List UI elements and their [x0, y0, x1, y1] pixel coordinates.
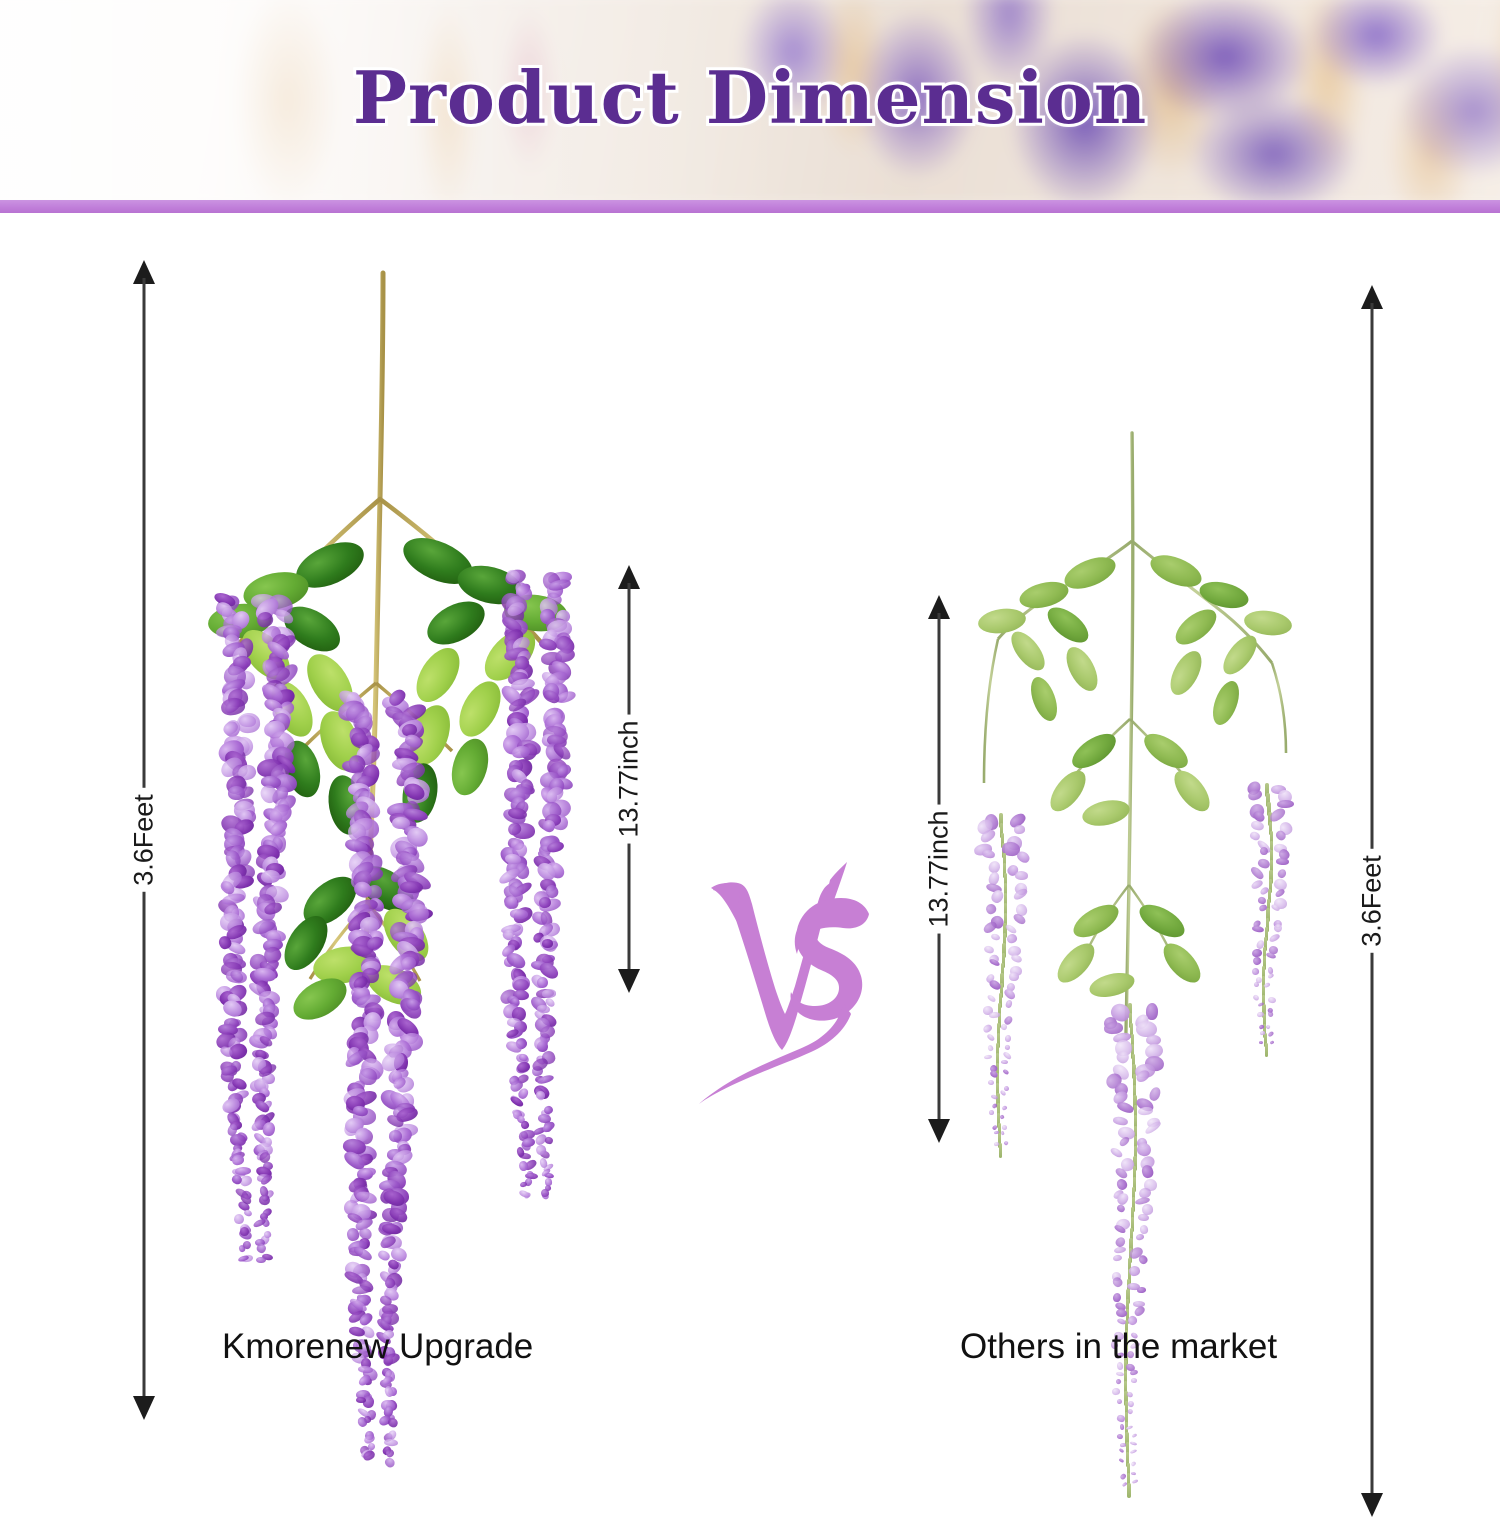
floret	[984, 1055, 992, 1060]
measure-left-strand-label: 13.77inch	[611, 714, 648, 843]
floret	[244, 1209, 254, 1218]
floret	[1138, 1106, 1154, 1116]
floret	[1112, 1388, 1121, 1396]
floret	[1136, 1141, 1153, 1158]
floret	[1014, 825, 1026, 835]
floret	[506, 1018, 521, 1028]
floret	[240, 1227, 249, 1236]
floret	[1266, 1025, 1272, 1031]
floret	[1251, 925, 1264, 933]
floret	[1131, 1378, 1138, 1383]
floret	[1131, 1472, 1136, 1476]
floret	[1010, 953, 1023, 964]
header-banner: Product Dimension	[0, 0, 1500, 200]
floret	[1112, 1292, 1121, 1302]
floret	[981, 849, 996, 859]
floret	[1005, 1034, 1012, 1042]
floret	[510, 908, 529, 919]
floret	[1267, 973, 1274, 980]
floret	[986, 994, 997, 1004]
measure-left-total-label: 3.6Feet	[126, 788, 163, 892]
floret	[1128, 1265, 1140, 1277]
floret	[1117, 1434, 1123, 1439]
floret	[1116, 1203, 1127, 1213]
floret	[1259, 1041, 1263, 1044]
floret	[391, 817, 409, 830]
floret	[1115, 1371, 1124, 1377]
right-flower-strand-3	[1240, 783, 1294, 1043]
floret	[1115, 1378, 1122, 1385]
floret	[1137, 1213, 1149, 1221]
right-flower-strand-1	[972, 813, 1030, 1143]
header-divider	[0, 200, 1500, 213]
floret	[1001, 1125, 1006, 1130]
floret	[264, 1230, 273, 1239]
floret	[984, 945, 995, 955]
floret	[542, 938, 554, 947]
floret	[984, 902, 998, 916]
floret	[537, 976, 548, 987]
floret	[1005, 999, 1013, 1008]
floret	[1268, 997, 1276, 1004]
floret	[1260, 847, 1268, 856]
floret	[1135, 1233, 1145, 1241]
floret	[987, 1045, 995, 1053]
left-flower-strand-1	[215, 593, 291, 1253]
floret	[1006, 933, 1019, 945]
floret	[400, 881, 423, 894]
left-product-label: Kmorenew Upgrade	[222, 1327, 533, 1367]
floret	[989, 1110, 995, 1115]
floret	[1252, 967, 1260, 975]
left-flower-strand-3	[498, 573, 570, 1193]
floret	[520, 1120, 530, 1130]
floret	[1015, 871, 1029, 880]
floret	[261, 870, 280, 884]
floret	[1136, 1287, 1145, 1293]
floret	[536, 1091, 545, 1099]
floret	[544, 1178, 552, 1186]
floret	[1276, 857, 1289, 864]
floret	[1251, 956, 1261, 966]
floret	[1141, 1164, 1155, 1179]
floret	[1132, 1433, 1138, 1439]
floret	[999, 1114, 1004, 1119]
floret	[1002, 1105, 1008, 1110]
arrowhead-down-icon	[133, 1396, 155, 1420]
floret	[1129, 1449, 1137, 1454]
flower-stem-core	[1265, 1043, 1268, 1057]
floret	[1129, 1441, 1137, 1446]
floret	[544, 1136, 554, 1145]
measure-right-total-label: 3.6Feet	[1354, 849, 1391, 953]
vs-badge	[697, 858, 877, 1128]
arrowhead-down-icon	[618, 969, 640, 993]
floret	[1000, 1130, 1005, 1135]
floret	[1112, 1116, 1128, 1127]
measure-left-strand: 13.77inch	[609, 565, 649, 993]
floret	[542, 988, 557, 997]
page-title: Product Dimension	[0, 56, 1500, 140]
floret	[1005, 1044, 1012, 1050]
right-flower-strand-2	[1098, 1003, 1162, 1483]
floret	[990, 932, 1001, 941]
floret	[982, 1023, 993, 1034]
floret	[987, 1080, 994, 1086]
floret	[989, 1011, 1000, 1018]
floret	[982, 920, 998, 935]
floret	[1113, 1254, 1122, 1261]
floret	[1252, 994, 1260, 1002]
floret	[1119, 1458, 1125, 1463]
floret	[1118, 1448, 1124, 1453]
floret	[1009, 972, 1019, 981]
floret	[234, 1214, 244, 1224]
floret	[1267, 1031, 1274, 1038]
floret	[1003, 987, 1017, 1000]
flower-stem-core	[999, 1143, 1002, 1158]
floret	[1003, 1068, 1010, 1074]
floret	[1114, 1246, 1126, 1254]
measure-right-total: 3.6Feet	[1352, 285, 1392, 1517]
floret	[519, 1181, 527, 1187]
right-product-label: Others in the market	[960, 1327, 1277, 1367]
floret	[1001, 1060, 1008, 1064]
floret	[1127, 1400, 1135, 1408]
floret	[1002, 1051, 1012, 1060]
floret	[540, 1189, 549, 1198]
arrowhead-down-icon	[1361, 1493, 1383, 1517]
floret	[1254, 982, 1259, 987]
vs-icon	[697, 858, 877, 1128]
floret	[1268, 933, 1280, 943]
floret	[1129, 1369, 1138, 1376]
floret	[389, 1129, 402, 1141]
flower-stem-core	[1127, 1483, 1130, 1498]
floret	[1109, 1146, 1124, 1159]
floret	[1119, 1473, 1127, 1481]
floret	[1119, 1443, 1126, 1447]
floret	[1132, 1479, 1138, 1484]
floret	[987, 1033, 996, 1042]
comparison-stage: 3.6Feet 13.77inch 13.77inch 3.6Feet	[0, 213, 1500, 1385]
floret	[1004, 1086, 1009, 1091]
floret	[1117, 1399, 1122, 1404]
floret	[1257, 857, 1271, 869]
floret	[1119, 1424, 1124, 1430]
floret	[1130, 1461, 1136, 1467]
measure-left-total: 3.6Feet	[124, 260, 164, 1420]
